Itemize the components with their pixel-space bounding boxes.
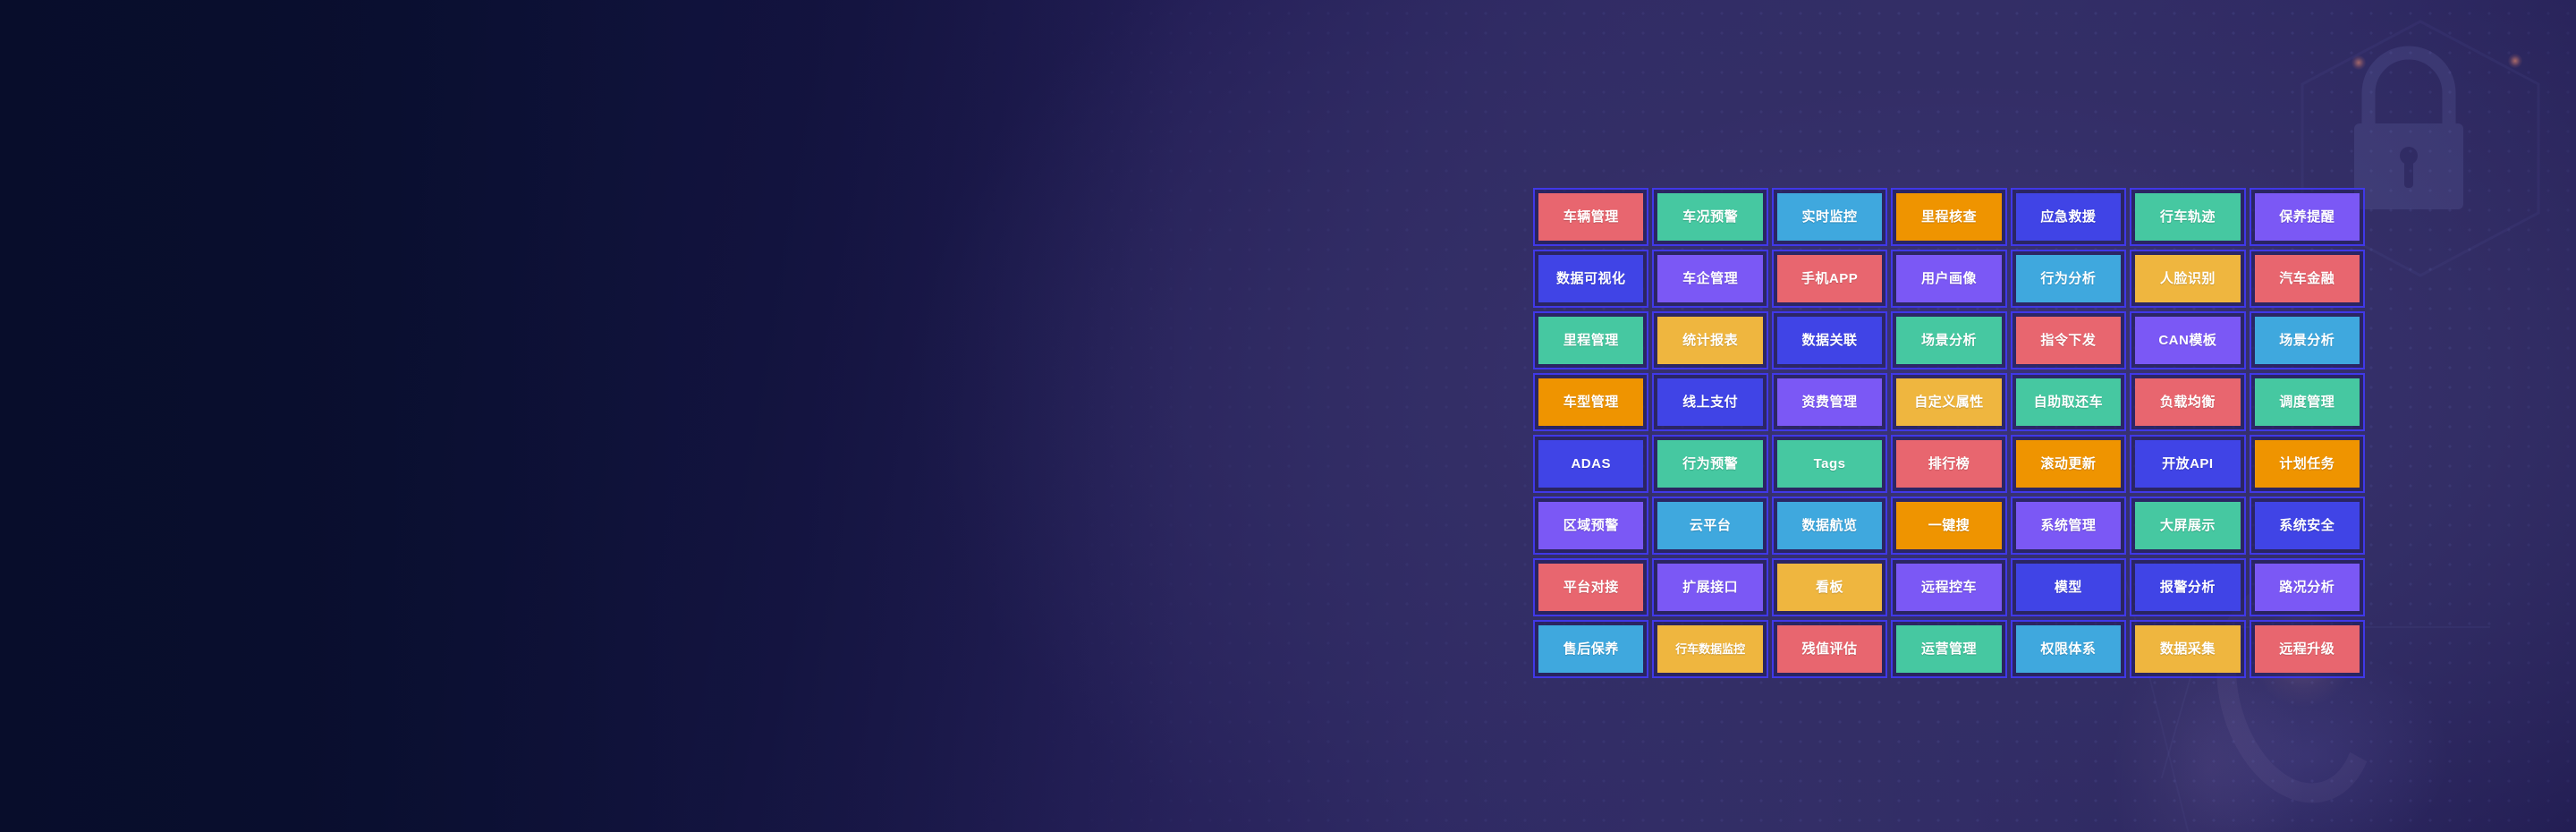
feature-tile[interactable]: 场景分析: [1896, 317, 2001, 364]
feature-tile[interactable]: 路况分析: [2255, 564, 2360, 611]
tile-frame[interactable]: 行车数据监控: [1652, 620, 1767, 678]
tile-frame[interactable]: 自助取还车: [2011, 373, 2126, 431]
feature-tile[interactable]: 里程核查: [1896, 193, 2001, 241]
tile-frame[interactable]: 车辆管理: [1533, 188, 1648, 246]
feature-tile[interactable]: 系统管理: [2016, 502, 2121, 549]
tile-frame[interactable]: 应急救援: [2011, 188, 2126, 246]
feature-tile[interactable]: 自助取还车: [2016, 378, 2121, 426]
feature-tile[interactable]: 实时监控: [1777, 193, 1882, 241]
tile-frame[interactable]: 数据可视化: [1533, 250, 1648, 308]
feature-tile[interactable]: 行为分析: [2016, 255, 2121, 302]
tile-frame[interactable]: 云平台: [1652, 497, 1767, 555]
feature-tile[interactable]: 负载均衡: [2135, 378, 2240, 426]
tile-frame[interactable]: 车型管理: [1533, 373, 1648, 431]
feature-tile[interactable]: 一键搜: [1896, 502, 2001, 549]
tile-frame[interactable]: 排行榜: [1891, 435, 2006, 493]
tile-frame[interactable]: 用户画像: [1891, 250, 2006, 308]
feature-tile[interactable]: 售后保养: [1538, 625, 1643, 673]
feature-tile[interactable]: 云平台: [1657, 502, 1762, 549]
tile-frame[interactable]: 行车轨迹: [2130, 188, 2245, 246]
feature-tile[interactable]: 自定义属性: [1896, 378, 2001, 426]
feature-tile[interactable]: 行为预警: [1657, 440, 1762, 488]
feature-tile[interactable]: 看板: [1777, 564, 1882, 611]
tile-frame[interactable]: 场景分析: [2250, 311, 2365, 369]
tile-frame[interactable]: Tags: [1772, 435, 1887, 493]
tile-frame[interactable]: 模型: [2011, 558, 2126, 616]
feature-tile[interactable]: 报警分析: [2135, 564, 2240, 611]
feature-tile[interactable]: 运营管理: [1896, 625, 2001, 673]
tile-frame[interactable]: 系统安全: [2250, 497, 2365, 555]
feature-tile[interactable]: 线上支付: [1657, 378, 1762, 426]
tile-frame[interactable]: 看板: [1772, 558, 1887, 616]
feature-tile[interactable]: 扩展接口: [1657, 564, 1762, 611]
left-vignette: [0, 0, 1185, 832]
tile-frame[interactable]: 线上支付: [1652, 373, 1767, 431]
tile-frame[interactable]: 汽车金融: [2250, 250, 2365, 308]
tile-frame[interactable]: 里程核查: [1891, 188, 2006, 246]
feature-tile[interactable]: Tags: [1777, 440, 1882, 488]
feature-tile[interactable]: 数据采集: [2135, 625, 2240, 673]
feature-tile[interactable]: 车辆管理: [1538, 193, 1643, 241]
tile-frame[interactable]: 计划任务: [2250, 435, 2365, 493]
tile-frame[interactable]: 数据关联: [1772, 311, 1887, 369]
feature-tile[interactable]: 远程控车: [1896, 564, 2001, 611]
feature-tile[interactable]: 里程管理: [1538, 317, 1643, 364]
tile-frame[interactable]: 平台对接: [1533, 558, 1648, 616]
feature-tile[interactable]: ADAS: [1538, 440, 1643, 488]
feature-tile[interactable]: 排行榜: [1896, 440, 2001, 488]
feature-tile[interactable]: 统计报表: [1657, 317, 1762, 364]
tile-frame[interactable]: 区域预警: [1533, 497, 1648, 555]
tile-frame[interactable]: 行为预警: [1652, 435, 1767, 493]
tile-frame[interactable]: 滚动更新: [2011, 435, 2126, 493]
tile-frame[interactable]: 统计报表: [1652, 311, 1767, 369]
tile-frame[interactable]: 权限体系: [2011, 620, 2126, 678]
feature-tile[interactable]: CAN模板: [2135, 317, 2240, 364]
tile-frame[interactable]: 远程控车: [1891, 558, 2006, 616]
tile-frame[interactable]: 调度管理: [2250, 373, 2365, 431]
feature-tile[interactable]: 开放API: [2135, 440, 2240, 488]
feature-tile[interactable]: 大屏展示: [2135, 502, 2240, 549]
tile-frame[interactable]: 车企管理: [1652, 250, 1767, 308]
tile-frame[interactable]: 实时监控: [1772, 188, 1887, 246]
tile-frame[interactable]: 一键搜: [1891, 497, 2006, 555]
tile-frame[interactable]: 开放API: [2130, 435, 2245, 493]
feature-tile[interactable]: 平台对接: [1538, 564, 1643, 611]
feature-tile[interactable]: 远程升级: [2255, 625, 2360, 673]
tile-frame[interactable]: 数据采集: [2130, 620, 2245, 678]
feature-tile[interactable]: 人脸识别: [2135, 255, 2240, 302]
background-stage: 车辆管理车况预警实时监控里程核查应急救援行车轨迹保养提醒数据可视化车企管理手机A…: [0, 0, 2576, 832]
tile-frame[interactable]: 人脸识别: [2130, 250, 2245, 308]
feature-tile[interactable]: 汽车金融: [2255, 255, 2360, 302]
tile-frame[interactable]: 系统管理: [2011, 497, 2126, 555]
feature-tile[interactable]: 指令下发: [2016, 317, 2121, 364]
tile-frame[interactable]: 大屏展示: [2130, 497, 2245, 555]
feature-tile-grid: 车辆管理车况预警实时监控里程核查应急救援行车轨迹保养提醒数据可视化车企管理手机A…: [1531, 186, 2367, 680]
tile-frame[interactable]: CAN模板: [2130, 311, 2245, 369]
feature-tile[interactable]: 行车数据监控: [1657, 625, 1762, 673]
tile-frame[interactable]: 负载均衡: [2130, 373, 2245, 431]
tile-frame[interactable]: 车况预警: [1652, 188, 1767, 246]
tile-frame[interactable]: ADAS: [1533, 435, 1648, 493]
feature-tile[interactable]: 行车轨迹: [2135, 193, 2240, 241]
feature-tile[interactable]: 车况预警: [1657, 193, 1762, 241]
feature-tile[interactable]: 车企管理: [1657, 255, 1762, 302]
tile-frame[interactable]: 路况分析: [2250, 558, 2365, 616]
feature-tile[interactable]: 应急救援: [2016, 193, 2121, 241]
feature-tile[interactable]: 数据航览: [1777, 502, 1882, 549]
tile-frame[interactable]: 场景分析: [1891, 311, 2006, 369]
tile-frame[interactable]: 报警分析: [2130, 558, 2245, 616]
tile-frame[interactable]: 残值评估: [1772, 620, 1887, 678]
tile-frame[interactable]: 手机APP: [1772, 250, 1887, 308]
feature-tile[interactable]: 保养提醒: [2255, 193, 2360, 241]
feature-tile[interactable]: 调度管理: [2255, 378, 2360, 426]
feature-tile[interactable]: 权限体系: [2016, 625, 2121, 673]
feature-tile[interactable]: 模型: [2016, 564, 2121, 611]
tile-frame[interactable]: 自定义属性: [1891, 373, 2006, 431]
feature-tile[interactable]: 用户画像: [1896, 255, 2001, 302]
tile-frame[interactable]: 保养提醒: [2250, 188, 2365, 246]
tile-frame[interactable]: 远程升级: [2250, 620, 2365, 678]
tile-frame[interactable]: 售后保养: [1533, 620, 1648, 678]
feature-tile[interactable]: 残值评估: [1777, 625, 1882, 673]
tile-frame[interactable]: 扩展接口: [1652, 558, 1767, 616]
tile-frame[interactable]: 数据航览: [1772, 497, 1887, 555]
tile-frame[interactable]: 行为分析: [2011, 250, 2126, 308]
feature-tile[interactable]: 资费管理: [1777, 378, 1882, 426]
feature-tile[interactable]: 数据关联: [1777, 317, 1882, 364]
tile-frame[interactable]: 里程管理: [1533, 311, 1648, 369]
tile-frame[interactable]: 资费管理: [1772, 373, 1887, 431]
feature-tile[interactable]: 手机APP: [1777, 255, 1882, 302]
feature-tile[interactable]: 区域预警: [1538, 502, 1643, 549]
tile-frame[interactable]: 运营管理: [1891, 620, 2006, 678]
feature-tile[interactable]: 车型管理: [1538, 378, 1643, 426]
feature-tile[interactable]: 计划任务: [2255, 440, 2360, 488]
feature-tile[interactable]: 场景分析: [2255, 317, 2360, 364]
tile-frame[interactable]: 指令下发: [2011, 311, 2126, 369]
feature-tile[interactable]: 数据可视化: [1538, 255, 1643, 302]
feature-tile[interactable]: 滚动更新: [2016, 440, 2121, 488]
feature-tile[interactable]: 系统安全: [2255, 502, 2360, 549]
